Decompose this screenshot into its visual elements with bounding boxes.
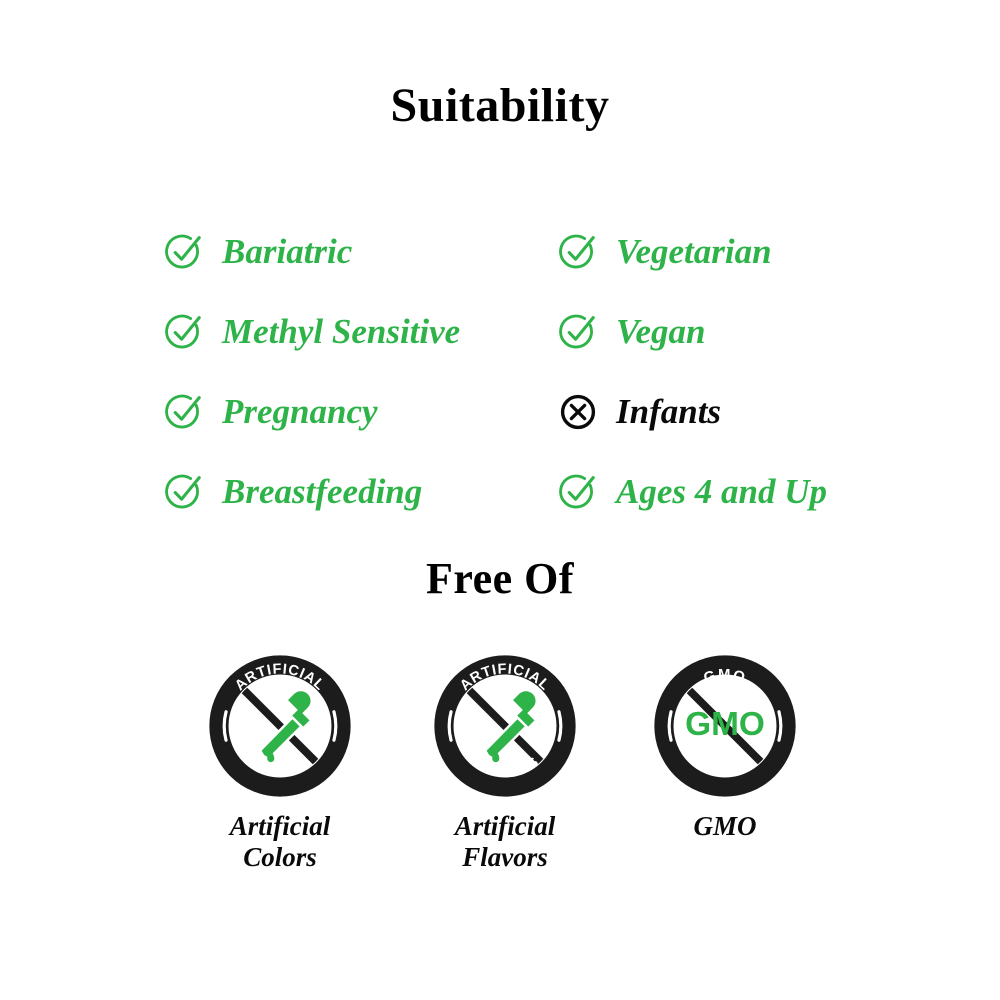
no-artificial-colors-badge-icon: ARTIFICIAL COLORS	[209, 655, 351, 797]
x-circle-icon	[558, 392, 598, 432]
badge-caption: Artificial Flavors	[405, 811, 605, 873]
check-circle-icon	[164, 392, 204, 432]
suitability-heading: Suitability	[0, 78, 1000, 134]
suitability-list: Bariatric Methyl Sensitive Pregnancy Bre…	[160, 210, 880, 530]
free-of-badge-artificial-flavors: ARTIFICIAL FLAVORS Artificial Flavors	[405, 655, 605, 873]
suitability-infographic: Suitability Bariatric Methyl Sensitive P…	[0, 0, 1000, 1000]
free-of-heading: Free Of	[0, 553, 1000, 605]
suitability-item-label: Infants	[616, 393, 721, 431]
suitability-item-label: Methyl Sensitive	[222, 313, 460, 351]
check-circle-icon	[558, 312, 598, 352]
suitability-item-breastfeeding: Breastfeeding	[164, 464, 422, 520]
suitability-item-ages-4-and-up: Ages 4 and Up	[558, 464, 827, 520]
free-of-badge-artificial-colors: ARTIFICIAL COLORS Artificial Colors	[180, 655, 380, 873]
suitability-item-label: Ages 4 and Up	[616, 473, 827, 511]
suitability-item-label: Bariatric	[222, 233, 352, 271]
free-of-badge-gmo: GMO GMO GMO GMO	[625, 655, 825, 842]
no-artificial-flavors-badge-icon: ARTIFICIAL FLAVORS	[434, 655, 576, 797]
check-circle-icon	[558, 472, 598, 512]
free-of-badge-list: ARTIFICIAL COLORS Artificial Colors	[150, 655, 850, 905]
badge-caption-line1: Artificial	[405, 811, 605, 842]
badge-caption: Artificial Colors	[180, 811, 380, 873]
svg-text:GMO: GMO	[702, 667, 748, 687]
suitability-item-vegan: Vegan	[558, 304, 705, 360]
suitability-item-label: Pregnancy	[222, 393, 378, 431]
no-gmo-badge-icon: GMO GMO GMO	[654, 655, 796, 797]
badge-caption-line1: GMO	[625, 811, 825, 842]
badge-caption-line1: Artificial	[180, 811, 380, 842]
check-circle-icon	[164, 232, 204, 272]
badge-ring-text-top: GMO	[702, 667, 748, 687]
badge-caption-line2: Flavors	[405, 842, 605, 873]
badge-caption-line2: Colors	[180, 842, 380, 873]
check-circle-icon	[164, 312, 204, 352]
suitability-item-methyl-sensitive: Methyl Sensitive	[164, 304, 460, 360]
badge-ring-text-bottom: GMO	[704, 758, 746, 777]
suitability-item-pregnancy: Pregnancy	[164, 384, 378, 440]
check-circle-icon	[558, 232, 598, 272]
suitability-item-label: Vegetarian	[616, 233, 772, 271]
svg-text:GMO: GMO	[704, 758, 746, 777]
suitability-item-label: Breastfeeding	[222, 473, 422, 511]
suitability-item-label: Vegan	[616, 313, 705, 351]
suitability-item-vegetarian: Vegetarian	[558, 224, 772, 280]
badge-caption: GMO	[625, 811, 825, 842]
suitability-item-infants: Infants	[558, 384, 721, 440]
check-circle-icon	[164, 472, 204, 512]
badge-center-text: GMO	[685, 706, 765, 743]
suitability-item-bariatric: Bariatric	[164, 224, 352, 280]
